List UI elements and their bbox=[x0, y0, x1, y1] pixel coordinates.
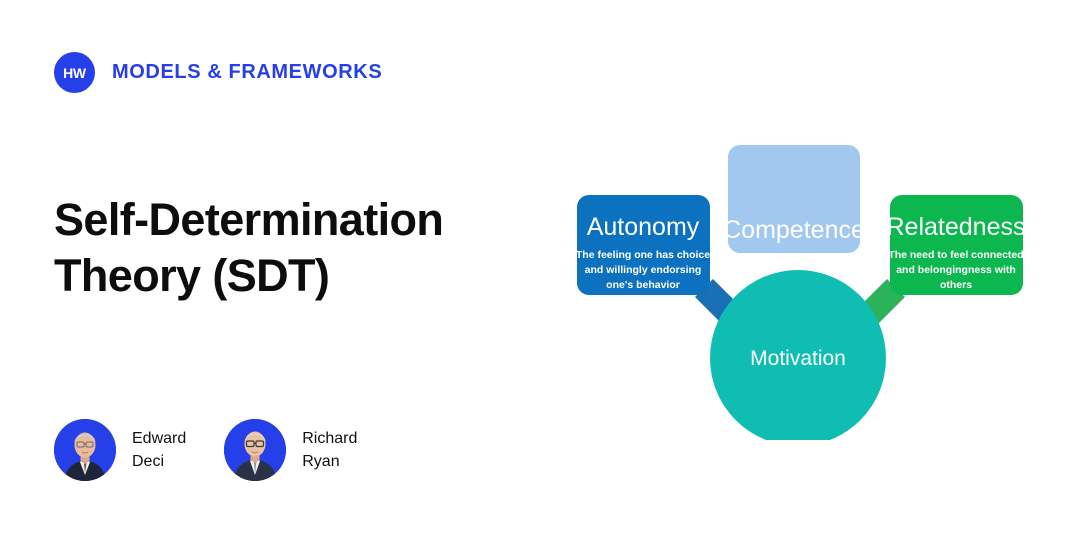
sdt-diagram: Competence The experience of mastery and… bbox=[560, 100, 1040, 440]
node-desc-autonomy-line2: and willingly endorsing bbox=[585, 264, 702, 276]
author-item: Richard Ryan bbox=[224, 419, 357, 481]
diagram-hub-motivation: Motivation bbox=[710, 270, 886, 440]
node-title-relatedness: Relatedness bbox=[887, 213, 1026, 241]
authors-list: Edward Deci bbox=[54, 419, 357, 481]
node-desc-autonomy-line3: one's behavior bbox=[606, 279, 680, 291]
hw-logo-icon: HW bbox=[54, 52, 95, 93]
brand-label: MODELS & FRAMEWORKS bbox=[112, 61, 382, 84]
node-title-competence: Competence bbox=[723, 216, 865, 244]
node-desc-relatedness-line2: and belongingness with bbox=[896, 264, 1016, 276]
node-desc-autonomy-line1: The feeling one has choice bbox=[576, 249, 710, 261]
brand-header: HW MODELS & FRAMEWORKS bbox=[54, 52, 382, 93]
node-desc-relatedness-line3: others bbox=[940, 279, 972, 291]
avatar bbox=[224, 419, 286, 481]
hw-logo-text: HW bbox=[63, 65, 86, 81]
hub-label: Motivation bbox=[750, 347, 846, 370]
author-name: Richard Ryan bbox=[302, 427, 357, 473]
infographic-page: HW MODELS & FRAMEWORKS Self-Determinatio… bbox=[0, 0, 1080, 540]
page-title: Self-Determination Theory (SDT) bbox=[54, 192, 574, 305]
node-desc-relatedness-line1: The need to feel connected bbox=[888, 249, 1023, 261]
author-name: Edward Deci bbox=[132, 427, 186, 473]
avatar bbox=[54, 419, 116, 481]
author-item: Edward Deci bbox=[54, 419, 186, 481]
node-title-autonomy: Autonomy bbox=[587, 213, 700, 241]
